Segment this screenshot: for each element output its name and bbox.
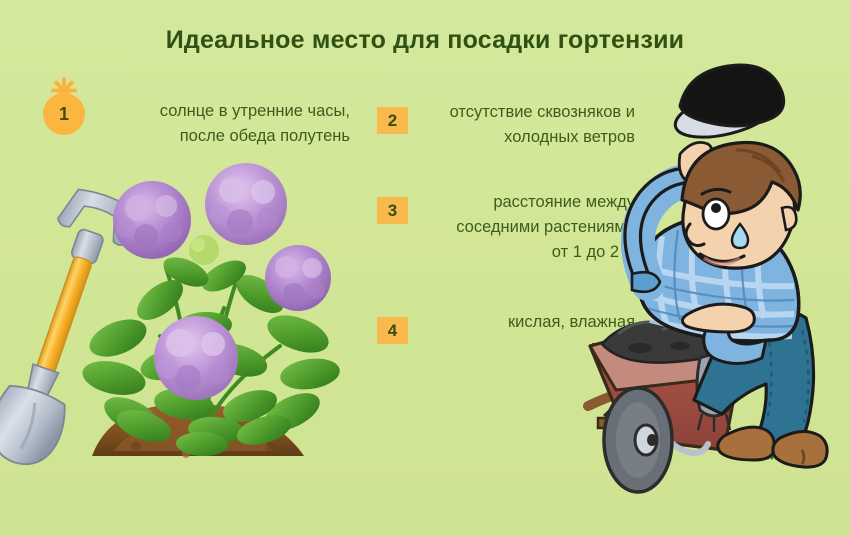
infographic-canvas: Идеальное место для посадки гортензии 1 … (0, 0, 850, 536)
hat (671, 65, 784, 146)
tip-number-3: 3 (388, 201, 397, 221)
tip-line: после обеда полутень (110, 124, 350, 149)
page-title: Идеальное место для посадки гортензии (0, 26, 850, 55)
tip-number-1: 1 (43, 93, 85, 135)
tip-line: солнце в утренние часы, (110, 99, 350, 124)
tip-text-1: солнце в утренние часы, после обеда полу… (110, 99, 350, 149)
flower-cluster (205, 163, 287, 245)
flower-cluster (265, 245, 331, 311)
gardener-illustration (576, 58, 850, 508)
tip-number-2: 2 (388, 111, 397, 131)
hydrangea-bush-illustration (74, 168, 344, 468)
flower-cluster (154, 316, 238, 400)
tip-number-4: 4 (388, 321, 397, 341)
flower-cluster (113, 181, 191, 259)
sun-icon: 1 (21, 71, 107, 157)
